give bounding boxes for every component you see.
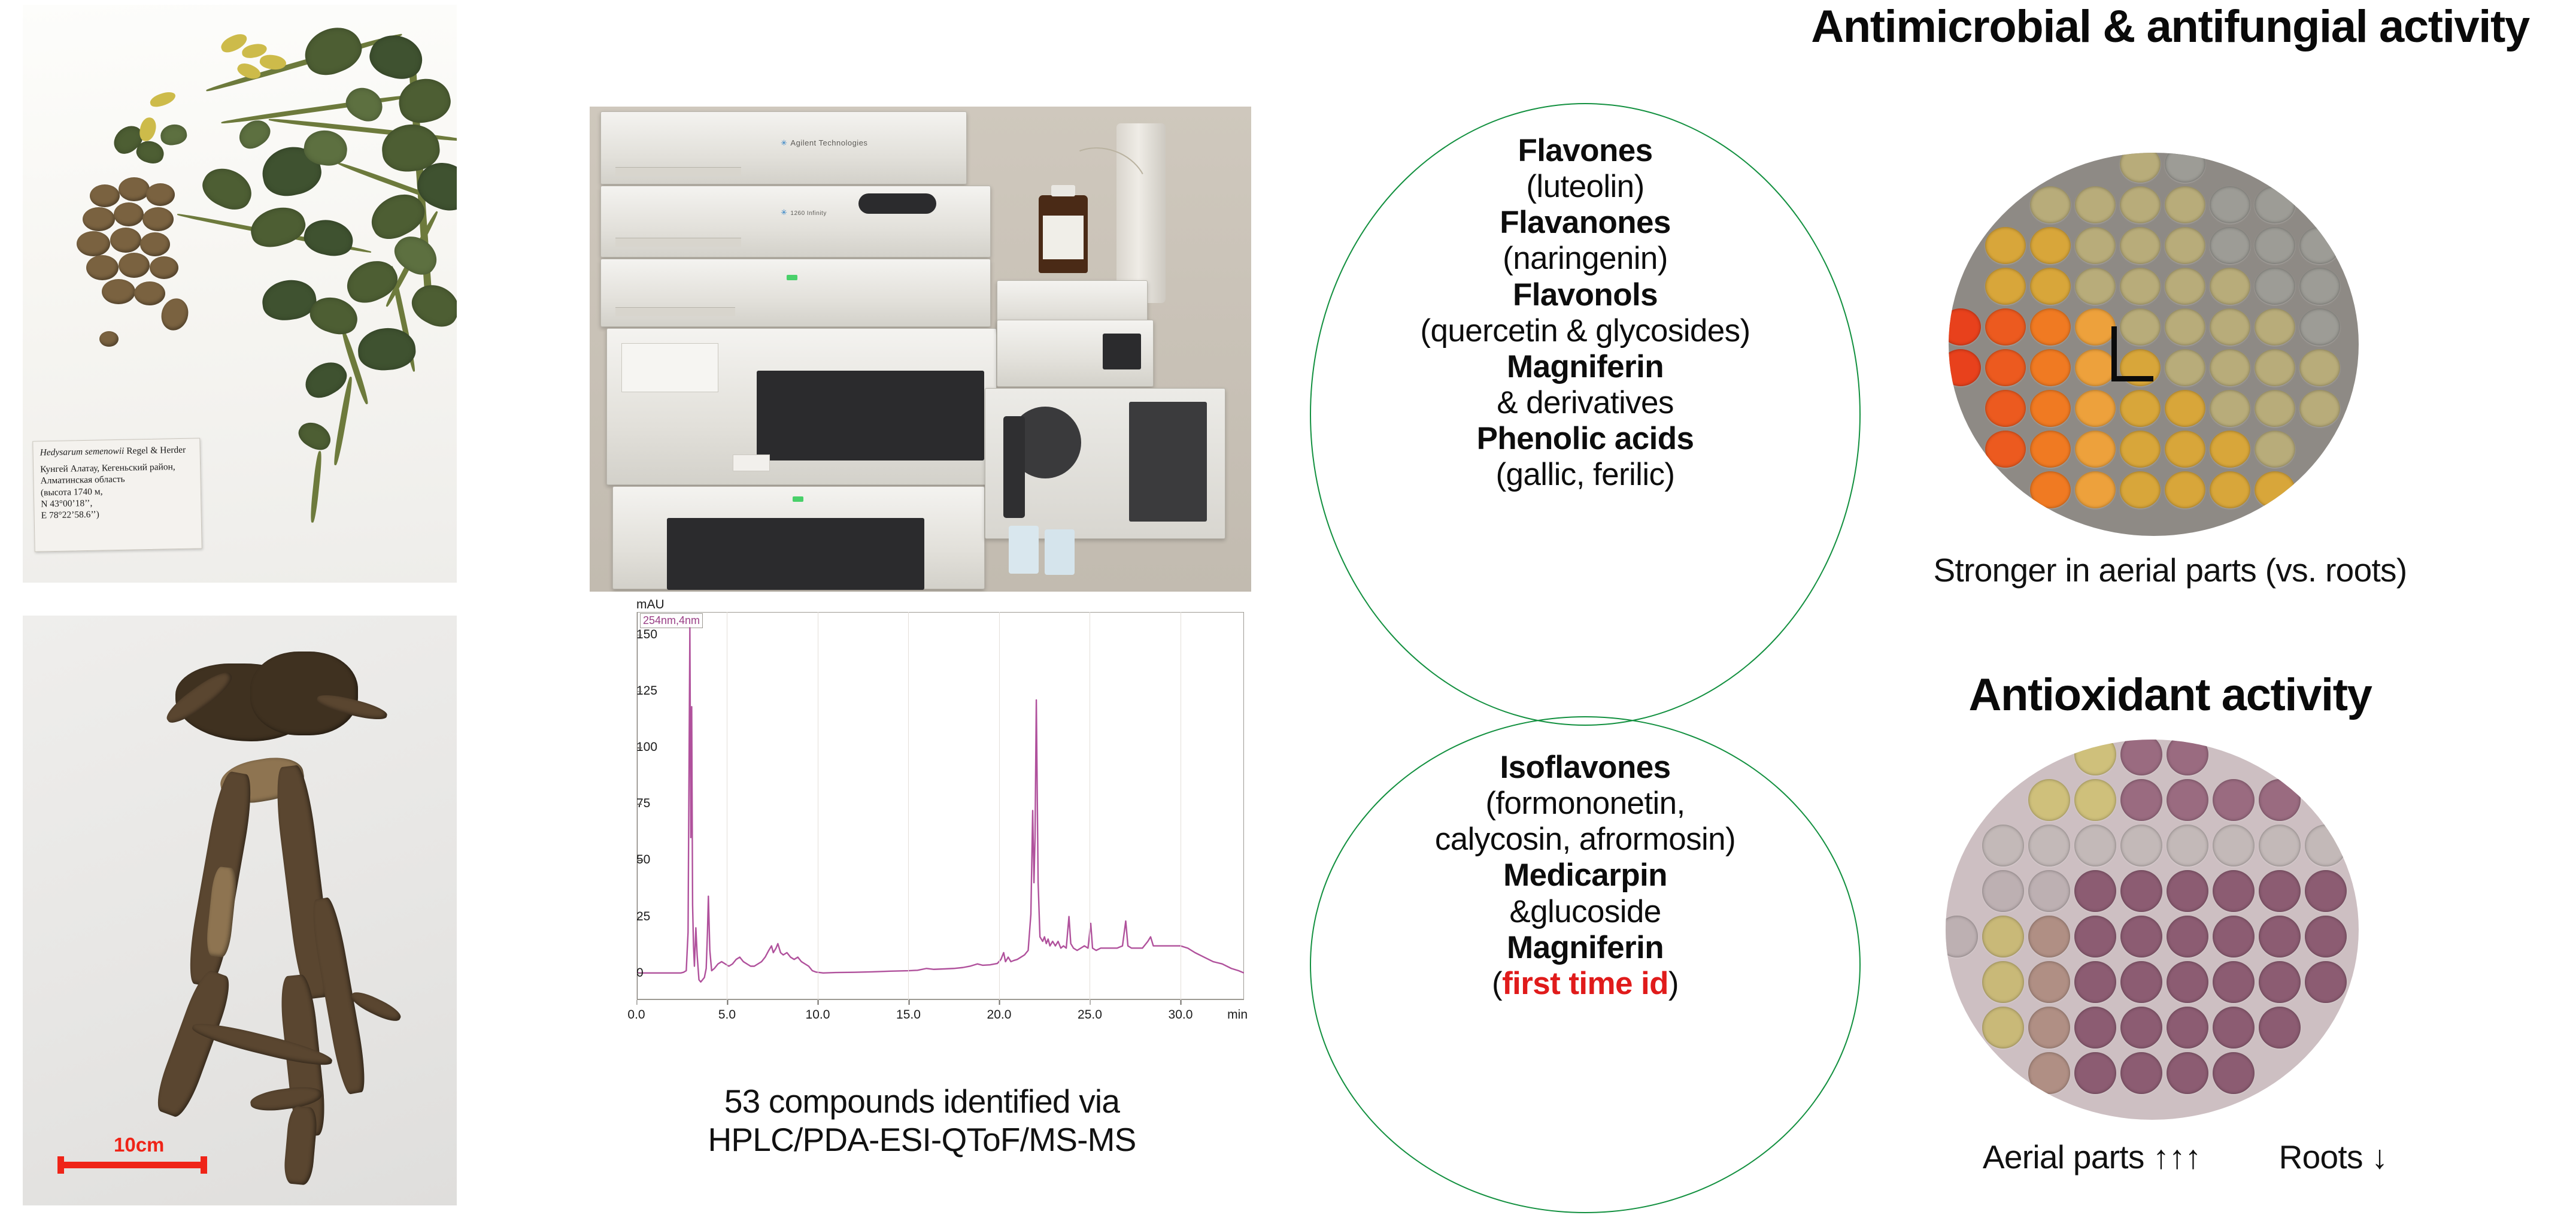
y-axis-tick: 25	[636, 910, 642, 924]
seed-pod	[142, 207, 174, 231]
longitude-line: E 78°22’58.6’’)	[41, 507, 194, 522]
root-specimen-photo: 10cm	[23, 616, 457, 1205]
hplc-module-small	[997, 320, 1154, 387]
microplate-well	[2213, 1052, 2255, 1094]
leaf	[365, 29, 427, 84]
seed-pod	[110, 228, 141, 253]
microplate-well	[2165, 153, 2205, 183]
microplate-well	[2213, 870, 2255, 912]
root-branch	[151, 967, 236, 1120]
microplate-well	[2259, 825, 2301, 866]
microplate-well	[2305, 916, 2347, 958]
compound-line: Magniferin	[1276, 349, 1894, 385]
compound-line: calycosin, afrormosin)	[1276, 822, 1894, 858]
y-axis-tick: 125	[636, 684, 642, 698]
compound-line: & derivatives	[1276, 385, 1894, 421]
microplate-well	[1985, 431, 2026, 468]
compound-line: Flavanones	[1276, 205, 1894, 241]
paren-close: )	[1668, 966, 1679, 1001]
microplate-well	[2075, 227, 2116, 264]
microplate-well	[1982, 916, 2024, 958]
microplate-well	[2120, 308, 2161, 346]
microplate-well	[2165, 268, 2205, 305]
microplate-well	[1949, 349, 1981, 386]
antimicrobial-caption: Stronger in aerial parts (vs. roots)	[1772, 551, 2568, 589]
stem	[310, 451, 323, 523]
hplc-module: 1260 Infinity	[600, 186, 991, 257]
microplate-well	[2210, 349, 2250, 386]
grid-line	[636, 612, 637, 1000]
first-time-id-line: (first time id)	[1276, 966, 1894, 1002]
microplate-well	[2255, 471, 2295, 508]
seed-pod	[83, 207, 115, 231]
microplate-well	[2074, 961, 2116, 1003]
microplate-well	[2259, 1007, 2301, 1049]
microplate-well	[2165, 186, 2205, 223]
plate-marker-L	[2111, 326, 2117, 381]
seed-pod	[146, 183, 175, 206]
compound-line: Phenolic acids	[1276, 421, 1894, 457]
microplate-well	[1985, 268, 2026, 305]
compound-line: (formononetin,	[1276, 786, 1894, 822]
microplate-well	[1982, 870, 2024, 912]
microplate-well	[2165, 390, 2205, 427]
microplate-well	[2255, 308, 2295, 346]
compound-line: Flavones	[1276, 133, 1894, 169]
microplate-well	[2075, 308, 2116, 346]
microplate-well	[2075, 349, 2116, 386]
x-axis-unit: min	[1227, 1000, 1248, 1022]
x-axis-tick: 20.0	[987, 1000, 1012, 1022]
instrument-brand-label: Agilent Technologies	[781, 138, 867, 148]
root-crown	[250, 652, 358, 735]
seed-pod	[102, 279, 135, 304]
microplate-well	[2030, 227, 2071, 264]
microplate-well	[2120, 870, 2162, 912]
microplate-well	[1985, 349, 2026, 386]
leaf	[341, 253, 403, 309]
compound-line: Flavonols	[1276, 277, 1894, 313]
y-axis-tick: 75	[636, 796, 642, 811]
microplate-well	[2167, 1007, 2208, 1049]
microplate-well	[2074, 1052, 2116, 1094]
microplate-well	[2255, 268, 2295, 305]
x-axis-tick: 30.0	[1169, 1000, 1193, 1022]
microplate-well	[2030, 471, 2071, 508]
microplate-well	[2030, 186, 2071, 223]
seed-pod-detached	[99, 331, 119, 347]
microplate-well	[2167, 740, 2208, 775]
microplate-well	[2255, 349, 2295, 386]
microplate-well	[2074, 825, 2116, 866]
microplate-well	[2074, 779, 2116, 821]
microplate-well	[2165, 349, 2205, 386]
caption-line-1: 53 compounds identified via	[590, 1083, 1254, 1121]
microplate-well	[2255, 390, 2295, 427]
hplc-instrument-photo: Agilent Technologies 1260 Infinity	[590, 107, 1251, 592]
microplate-well	[2120, 227, 2161, 264]
microplate-well	[2255, 431, 2295, 468]
y-axis-unit: mAU	[636, 598, 665, 612]
microplate-well	[2305, 961, 2347, 1003]
hplc-module-dad	[606, 328, 997, 485]
microplate-well	[2120, 1007, 2162, 1049]
microplate-well	[2120, 153, 2161, 183]
microplate-well	[2210, 390, 2250, 427]
antioxidant-roots-label: Roots ↓	[2279, 1138, 2388, 1176]
compound-line: (naringenin)	[1276, 241, 1894, 277]
seed-pod	[157, 295, 192, 334]
x-axis-tick: 15.0	[896, 1000, 921, 1022]
seed-pod	[140, 232, 170, 256]
microplate-well	[2120, 916, 2162, 958]
scale-bar	[57, 1162, 207, 1168]
seed-pod	[119, 177, 150, 201]
leaf	[341, 81, 389, 127]
x-axis-tick: 10.0	[806, 1000, 830, 1022]
grid-line	[727, 612, 727, 1000]
x-axis-tick: 5.0	[718, 1000, 736, 1022]
microplate-well	[2030, 268, 2071, 305]
microplate-well	[2165, 471, 2205, 508]
microplate-well	[2165, 308, 2205, 346]
microplate-well	[2028, 1007, 2070, 1049]
compound-line: (luteolin)	[1276, 169, 1894, 205]
antimicrobial-activity-title: Antimicrobial & antifungial activity	[1772, 2, 2568, 51]
microplate-well	[1985, 390, 2026, 427]
stem	[221, 93, 417, 125]
microplate-well	[2030, 308, 2071, 346]
microplate-well	[2120, 186, 2161, 223]
microplate-well	[2259, 870, 2301, 912]
microplate-well	[2074, 1007, 2116, 1049]
paren-open: (	[1492, 966, 1502, 1001]
microplate-well	[2167, 825, 2208, 866]
hplc-module-sampler	[612, 486, 985, 589]
antioxidant-aerial-label: Aerial parts ↑↑↑	[1983, 1138, 2201, 1176]
microplate-well	[2213, 779, 2255, 821]
microplate-well	[2165, 431, 2205, 468]
isoflavonoid-compound-list: Isoflavones(formononetin,calycosin, afro…	[1276, 750, 1894, 1002]
compound-line: Magniferin	[1276, 930, 1894, 966]
compound-line: &glucoside	[1276, 894, 1894, 930]
microplate-well	[2305, 870, 2347, 912]
scale-bar-label: 10cm	[114, 1134, 164, 1156]
microplate-well	[2074, 870, 2116, 912]
microplate-well	[2210, 471, 2250, 508]
herbarium-label: Hedysarum semenowii Regel & Herder Кунге…	[32, 438, 202, 552]
leaf	[159, 122, 188, 147]
seed-pod	[134, 281, 165, 305]
microplate-well	[2030, 390, 2071, 427]
microplate-well	[2075, 431, 2116, 468]
microplate-well	[2120, 268, 2161, 305]
microplate-well	[2213, 825, 2255, 866]
microplate-well	[2305, 825, 2347, 866]
chromatogram-caption: 53 compounds identified via HPLC/PDA-ESI…	[590, 1083, 1254, 1159]
instrument-model-label: 1260 Infinity	[781, 208, 827, 217]
microplate-well	[2167, 1052, 2208, 1094]
microplate-well	[2210, 431, 2250, 468]
microplate-well	[2120, 431, 2161, 468]
compound-line: (gallic, ferilic)	[1276, 457, 1894, 493]
microplate-well	[2120, 390, 2161, 427]
microplate-well	[2210, 308, 2250, 346]
flavonoid-compound-list: Flavones(luteolin)Flavanones(naringenin)…	[1276, 133, 1894, 493]
microplate-well	[2213, 961, 2255, 1003]
microplate-well	[2075, 186, 2116, 223]
microplate-well	[2167, 779, 2208, 821]
x-axis-tick: 0.0	[627, 1000, 645, 1022]
microplate-well	[2255, 186, 2295, 223]
leaf	[406, 277, 457, 334]
microplate-well	[1982, 825, 2024, 866]
microplate-well	[2259, 779, 2301, 821]
microplate-well	[2213, 1007, 2255, 1049]
microplate-well	[2120, 825, 2162, 866]
leaf	[301, 216, 356, 260]
seed-pod	[150, 256, 178, 279]
microplate-well	[2299, 390, 2340, 427]
microplate-well	[2120, 471, 2161, 508]
y-axis-tick: 100	[636, 740, 642, 755]
microplate-well	[2030, 431, 2071, 468]
microplate-well	[2165, 227, 2205, 264]
herbarium-specimen-photo: Hedysarum semenowii Regel & Herder Кунге…	[23, 5, 457, 583]
compound-line: Isoflavones	[1276, 750, 1894, 786]
y-axis-tick: 150	[636, 628, 642, 642]
microplate-well	[2075, 471, 2116, 508]
microplate-well	[2120, 740, 2162, 775]
flower	[148, 90, 177, 108]
hplc-module: Agilent Technologies	[600, 111, 967, 184]
microplate-well	[2299, 227, 2340, 264]
leaf	[246, 202, 310, 253]
microplate-well	[2028, 1052, 2070, 1094]
microplate-well	[2210, 268, 2250, 305]
y-axis-tick: 0	[636, 966, 642, 980]
microplate-well	[1946, 916, 1978, 958]
microplate-well	[1949, 308, 1981, 346]
seed-pod	[86, 255, 119, 280]
microplate-well	[2120, 1052, 2162, 1094]
microplate-well	[2167, 870, 2208, 912]
leaf	[295, 417, 335, 455]
microplate-well	[2213, 916, 2255, 958]
x-axis-tick: 25.0	[1078, 1000, 1102, 1022]
microplate-well	[2074, 916, 2116, 958]
microplate-well	[2028, 916, 2070, 958]
grid-line	[908, 612, 909, 1000]
seed-pod	[90, 184, 120, 207]
seed-pod	[119, 253, 150, 278]
antimicrobial-microplate-photo	[1949, 153, 2359, 536]
hplc-chromatogram: mAU 254nm,4nm 15012510075502500.05.010.0…	[590, 599, 1251, 1078]
species-name: Hedysarum semenowii	[40, 446, 124, 458]
flower	[138, 116, 157, 142]
microplate-well	[1985, 227, 2026, 264]
grid-line	[999, 612, 1000, 1000]
microplate-well	[2120, 961, 2162, 1003]
microplate-well	[2074, 740, 2116, 775]
microplate-well	[2210, 227, 2250, 264]
microplate-well	[2299, 268, 2340, 305]
antioxidant-microplate-photo	[1946, 740, 2359, 1120]
mass-spectrometer	[985, 388, 1225, 539]
root-tip	[283, 1105, 318, 1186]
microplate-well	[2259, 916, 2301, 958]
microplate-well	[2259, 961, 2301, 1003]
microplate-well	[2120, 779, 2162, 821]
y-axis-tick: 50	[636, 853, 642, 867]
microplate-well	[2075, 268, 2116, 305]
seed-pod	[77, 231, 110, 256]
microplate-well	[2028, 779, 2070, 821]
seed-pod	[114, 202, 144, 226]
microplate-well	[2167, 916, 2208, 958]
microplate-well	[2028, 825, 2070, 866]
waste-bottle	[1009, 526, 1039, 574]
compound-line: Medicarpin	[1276, 858, 1894, 893]
species-authority: Regel & Herder	[124, 445, 186, 456]
compound-line: (quercetin & glycosides)	[1276, 313, 1894, 349]
first-time-id-badge: first time id	[1502, 966, 1668, 1001]
leaf	[298, 20, 368, 83]
microplate-well	[2255, 227, 2295, 264]
microplate-well	[2299, 349, 2340, 386]
grid-line	[1181, 612, 1181, 1000]
microplate-well	[2075, 390, 2116, 427]
microplate-well	[2210, 186, 2250, 223]
microplate-well	[1985, 308, 2026, 346]
leaf	[395, 74, 454, 127]
microplate-well	[1982, 1007, 2024, 1049]
microplate-well	[2028, 961, 2070, 1003]
caption-line-2: HPLC/PDA-ESI-QToF/MS-MS	[590, 1121, 1254, 1159]
grid-line	[1090, 612, 1090, 1000]
grid-line	[818, 612, 818, 1000]
microplate-well	[1982, 961, 2024, 1003]
antioxidant-caption: Aerial parts ↑↑↑ Roots ↓	[1844, 1138, 2526, 1176]
microplate-well	[2299, 308, 2340, 346]
microplate-well	[2028, 870, 2070, 912]
waste-bottle	[1045, 529, 1075, 575]
microplate-well	[2030, 349, 2071, 386]
leaf	[197, 161, 259, 217]
microplate-well	[2167, 961, 2208, 1003]
hplc-module	[600, 259, 991, 327]
antioxidant-activity-title: Antioxidant activity	[1772, 671, 2568, 720]
